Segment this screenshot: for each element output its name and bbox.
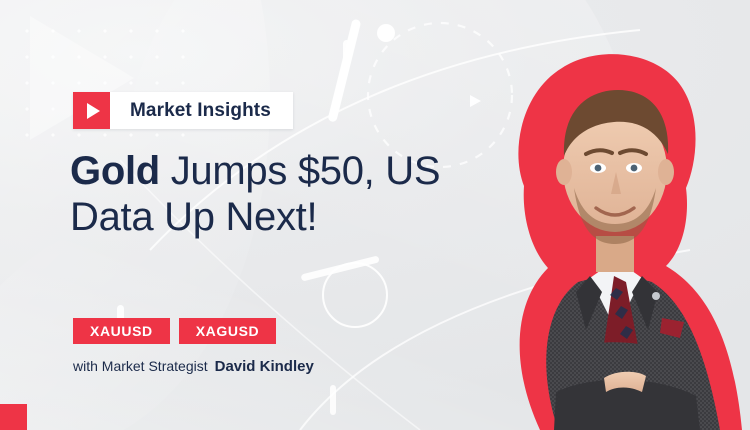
iris-right xyxy=(631,165,638,172)
red-corner-square xyxy=(0,404,27,430)
market-insights-label: Market Insights xyxy=(110,92,293,129)
presenter-role: with Market Strategist xyxy=(73,358,208,374)
market-insights-banner: Market Insights Gold Jumps $50, US Data … xyxy=(0,0,750,430)
ear-left xyxy=(556,159,572,185)
market-insights-badge[interactable]: Market Insights xyxy=(73,92,293,129)
diagonal-bar-mid xyxy=(300,255,379,281)
diagonal-bar-long xyxy=(327,19,361,123)
ticker-badge-group: XAUUSD XAGUSD xyxy=(73,318,276,344)
diagonal-bar-short xyxy=(343,40,350,68)
presenter-credit: with Market StrategistDavid Kindley xyxy=(73,358,314,375)
presenter-name: David Kindley xyxy=(215,358,314,375)
page-title: Gold Jumps $50, US Data Up Next! xyxy=(70,148,500,241)
play-icon xyxy=(73,92,110,129)
iris-left xyxy=(595,165,602,172)
headline-line2: Data Up Next! xyxy=(70,195,317,239)
headline-emphasis: Gold xyxy=(70,149,160,193)
bar-small-bottom xyxy=(330,385,336,415)
ticker-badge-xagusd[interactable]: XAGUSD xyxy=(179,318,277,344)
ticker-badge-xauusd[interactable]: XAUUSD xyxy=(73,318,170,344)
ear-right xyxy=(658,159,674,185)
headline-line1-rest: Jumps $50, US xyxy=(160,149,440,193)
lapel-pin xyxy=(652,292,660,300)
